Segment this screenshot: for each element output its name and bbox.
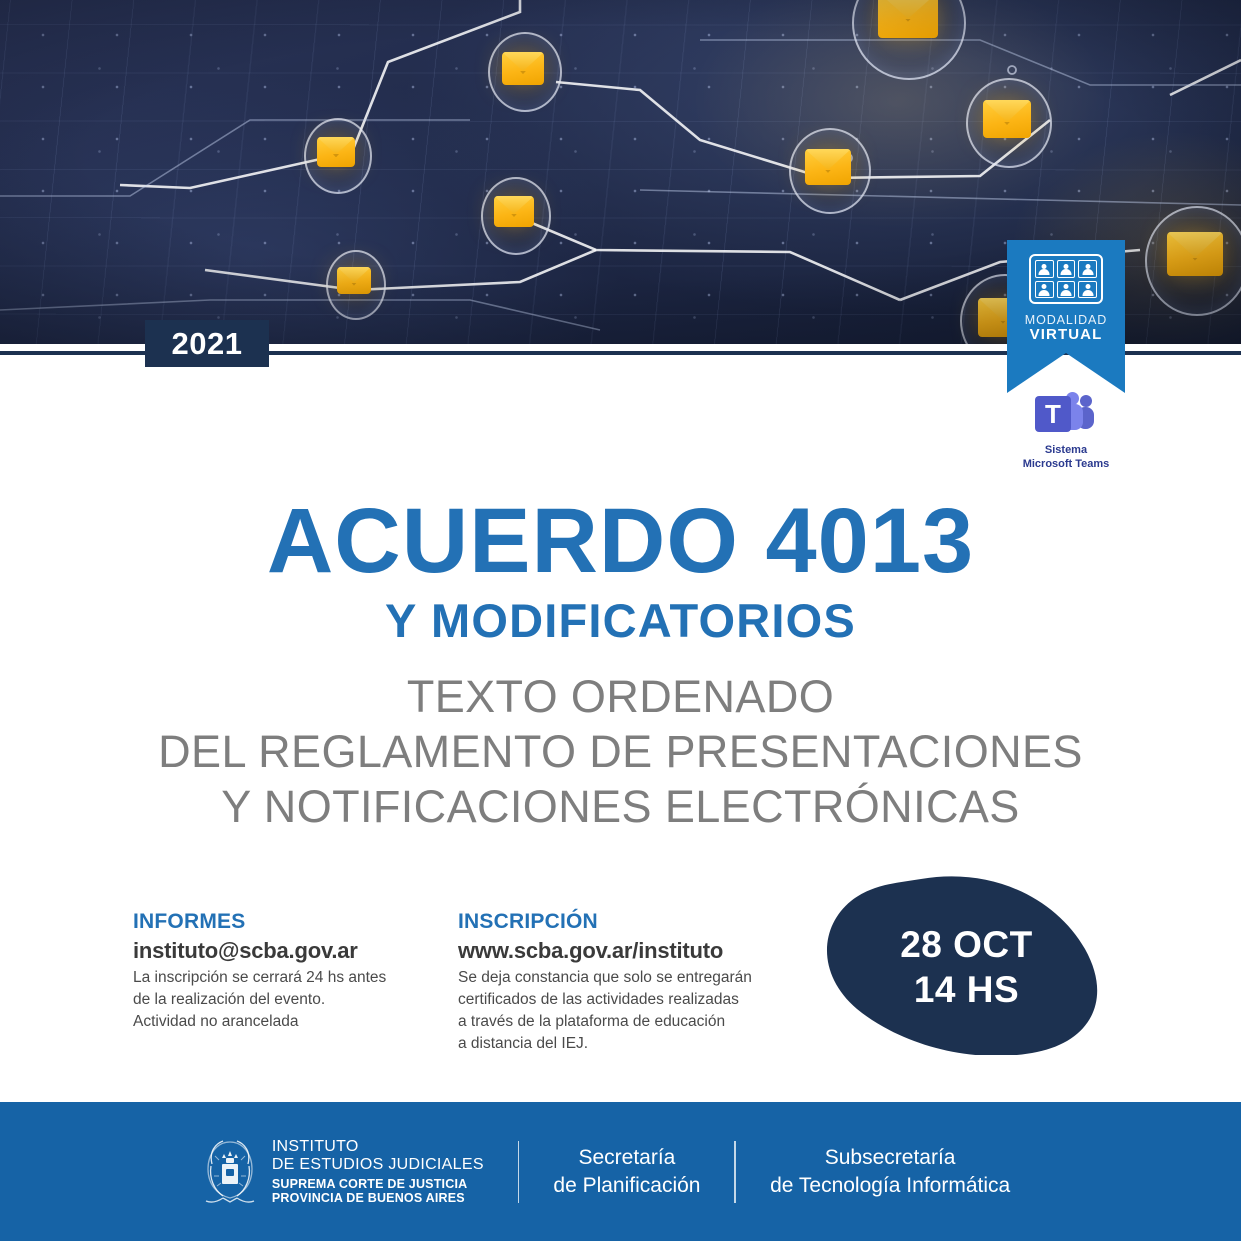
inscripcion-heading: INSCRIPCIÓN — [458, 910, 783, 934]
description-line-1: TEXTO ORDENADO — [0, 670, 1241, 725]
inscripcion-body-line3: a través de la plataforma de educación — [458, 1011, 783, 1033]
virtual-flag: MODALIDAD VIRTUAL — [1007, 240, 1125, 353]
inscripcion-body-line4: a distancia del IEJ. — [458, 1033, 783, 1055]
footer-org1-line2: de Planificación — [553, 1172, 700, 1199]
footer-org2-line2: de Tecnología Informática — [770, 1172, 1010, 1199]
informes-body: La inscripción se cerrará 24 hs antes de… — [133, 967, 458, 1033]
info-columns: INFORMES instituto@scba.gov.ar La inscri… — [133, 910, 783, 1055]
footer-bar: INSTITUTO DE ESTUDIOS JUDICIALES SUPREMA… — [0, 1102, 1241, 1241]
informes-heading: INFORMES — [133, 910, 458, 934]
inscripcion-body: Se deja constancia que solo se entregará… — [458, 967, 783, 1055]
date-line1: 28 OCT — [900, 922, 1033, 967]
poster-root: 2021 MODALIDAD VIRTUAL T Sistema Microso… — [0, 0, 1241, 1241]
coat-of-arms-icon — [199, 1136, 261, 1208]
description-line-3: Y NOTIFICACIONES ELECTRÓNICAS — [0, 780, 1241, 835]
inscripcion-body-line2: certificados de las actividades realizad… — [458, 989, 783, 1011]
virtual-badge-line2: VIRTUAL — [1007, 326, 1125, 343]
teams-block: T Sistema Microsoft Teams — [1007, 392, 1125, 472]
date-badge-text: 28 OCT 14 HS — [825, 877, 1108, 1057]
teams-caption-line2: Microsoft Teams — [1007, 458, 1125, 472]
institute-line4: PROVINCIA DE BUENOS AIRES — [272, 1191, 484, 1205]
footer-org-1: Secretaría de Planificación — [553, 1144, 700, 1199]
footer-org1-line1: Secretaría — [553, 1144, 700, 1171]
year-badge: 2021 — [145, 320, 269, 367]
date-line2: 14 HS — [914, 967, 1019, 1012]
teams-letter: T — [1035, 396, 1071, 432]
informes-body-line3: Actividad no arancelada — [133, 1011, 458, 1033]
footer-org2-line1: Subsecretaría — [770, 1144, 1010, 1171]
institute-line1: INSTITUTO — [272, 1138, 484, 1156]
footer-org-2: Subsecretaría de Tecnología Informática — [770, 1144, 1010, 1199]
date-badge: 28 OCT 14 HS — [823, 875, 1106, 1055]
virtual-badge-line1: MODALIDAD — [1007, 313, 1125, 327]
page-description: TEXTO ORDENADO DEL REGLAMENTO DE PRESENT… — [0, 670, 1241, 835]
virtual-modality-badge: MODALIDAD VIRTUAL — [1007, 240, 1125, 353]
footer-divider-1 — [518, 1141, 520, 1203]
microsoft-teams-icon: T — [1035, 392, 1097, 438]
page-subtitle: Y MODIFICATORIOS — [0, 597, 1241, 644]
footer-divider-2 — [734, 1141, 736, 1203]
video-grid-icon — [1029, 254, 1103, 304]
page-title: ACUERDO 4013 — [0, 495, 1241, 587]
teams-caption-line1: Sistema — [1007, 444, 1125, 458]
year-badge-label: 2021 — [172, 326, 243, 362]
inscripcion-url[interactable]: www.scba.gov.ar/instituto — [458, 938, 783, 964]
inscripcion-column: INSCRIPCIÓN www.scba.gov.ar/instituto Se… — [458, 910, 783, 1055]
description-line-2: DEL REGLAMENTO DE PRESENTACIONES — [0, 725, 1241, 780]
inscripcion-body-line1: Se deja constancia que solo se entregará… — [458, 967, 783, 989]
informes-email[interactable]: instituto@scba.gov.ar — [133, 938, 458, 964]
institute-block: INSTITUTO DE ESTUDIOS JUDICIALES SUPREMA… — [272, 1138, 484, 1206]
institute-line2: DE ESTUDIOS JUDICIALES — [272, 1156, 484, 1174]
institute-line3: SUPREMA CORTE DE JUSTICIA — [272, 1177, 484, 1191]
informes-column: INFORMES instituto@scba.gov.ar La inscri… — [133, 910, 458, 1055]
informes-body-line1: La inscripción se cerrará 24 hs antes — [133, 967, 458, 989]
informes-body-line2: de la realización del evento. — [133, 989, 458, 1011]
